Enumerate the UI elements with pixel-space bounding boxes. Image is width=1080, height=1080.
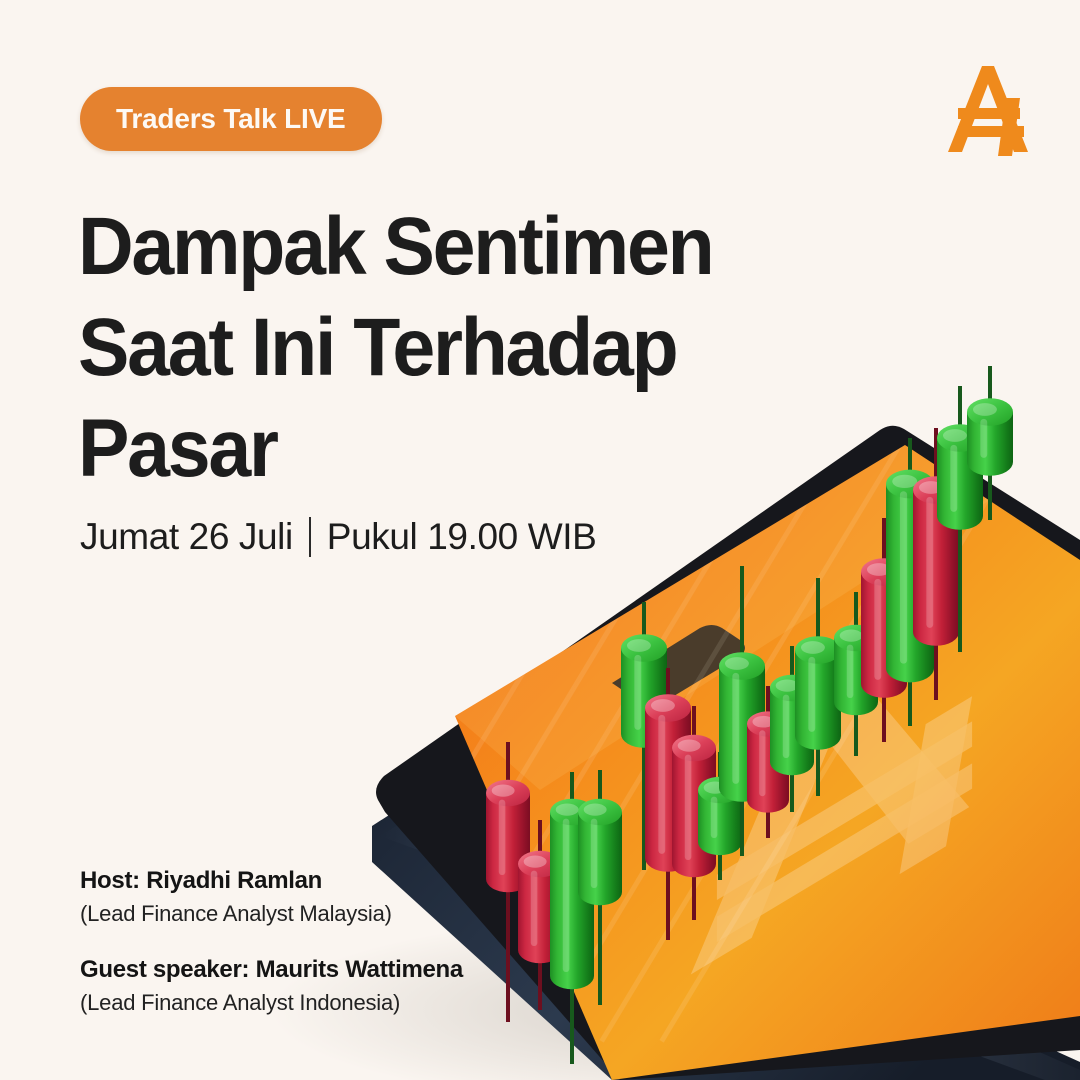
live-badge: Traders Talk LIVE bbox=[80, 87, 382, 151]
event-date: Jumat 26 Juli bbox=[80, 516, 293, 558]
brand-a-logo bbox=[932, 52, 1044, 164]
headline-line-3: Pasar bbox=[78, 398, 755, 499]
guest-role: (Lead Finance Analyst Indonesia) bbox=[80, 988, 463, 1018]
host-role: (Lead Finance Analyst Malaysia) bbox=[80, 899, 463, 929]
event-time: Pukul 19.00 WIB bbox=[327, 516, 597, 558]
host-name: Host: Riyadhi Ramlan bbox=[80, 866, 463, 896]
headline-line-1: Dampak Sentimen bbox=[78, 196, 755, 297]
page-title: Dampak Sentimen Saat Ini Terhadap Pasar bbox=[78, 196, 755, 499]
event-datetime: Jumat 26 Juli Pukul 19.00 WIB bbox=[80, 516, 596, 558]
headline-line-2: Saat Ini Terhadap bbox=[78, 297, 755, 398]
guest-credit: Guest speaker: Maurits Wattimena (Lead F… bbox=[80, 955, 463, 1018]
datetime-separator bbox=[309, 517, 311, 557]
speaker-credits: Host: Riyadhi Ramlan (Lead Finance Analy… bbox=[80, 866, 463, 1018]
host-credit: Host: Riyadhi Ramlan (Lead Finance Analy… bbox=[80, 866, 463, 929]
live-badge-label: Traders Talk LIVE bbox=[116, 103, 346, 135]
guest-name: Guest speaker: Maurits Wattimena bbox=[80, 955, 463, 985]
